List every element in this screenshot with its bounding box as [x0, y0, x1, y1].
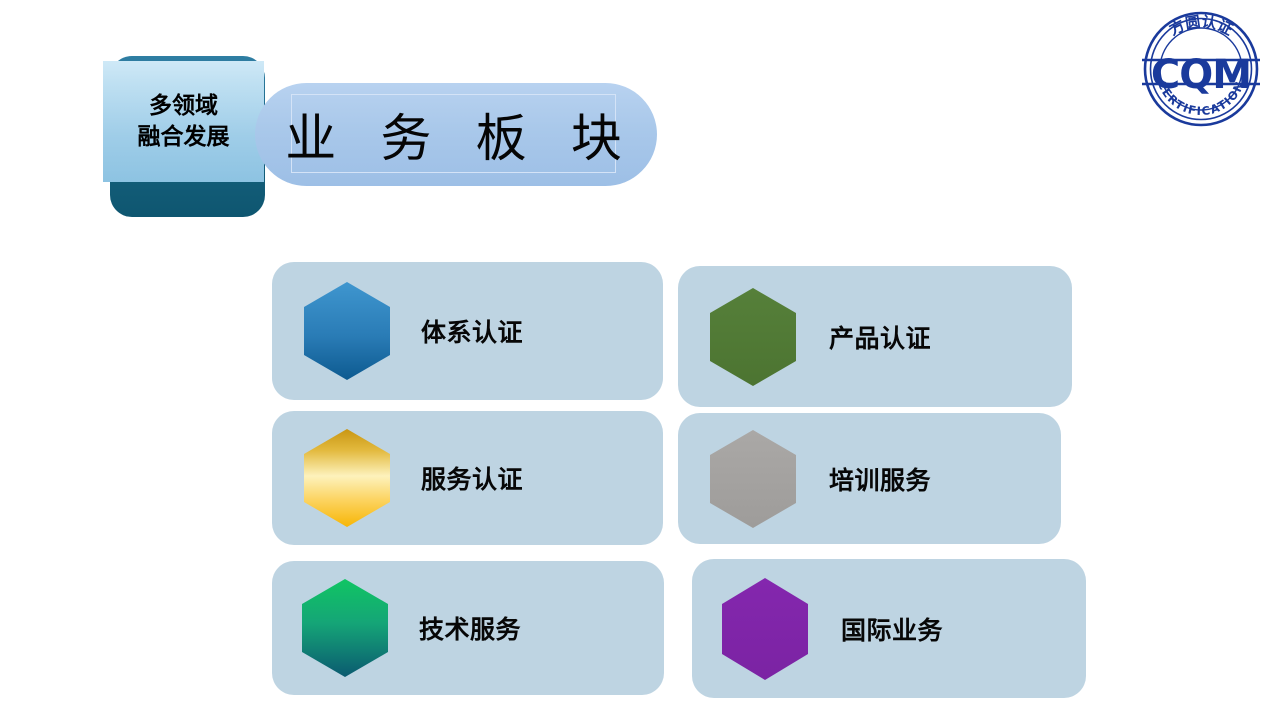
hexagon-icon [709, 287, 797, 387]
hexagon-icon [301, 578, 389, 678]
hexagon-icon [721, 577, 809, 681]
segment-card-label: 技术服务 [419, 610, 521, 646]
segment-card-system-certification[interactable]: 体系认证 [272, 262, 663, 400]
segment-card-label: 服务认证 [421, 460, 523, 496]
business-segment-grid: 体系认证 产品认证 [0, 0, 1280, 720]
segment-card-international-business[interactable]: 国际业务 [692, 559, 1086, 698]
segment-card-training-service[interactable]: 培训服务 [678, 413, 1061, 544]
hexagon-icon [303, 281, 391, 381]
segment-card-label: 体系认证 [421, 313, 523, 349]
segment-card-technical-service[interactable]: 技术服务 [272, 561, 664, 695]
segment-card-service-certification[interactable]: 服务认证 [272, 411, 663, 545]
hexagon-icon [303, 428, 391, 528]
segment-card-label: 产品认证 [829, 319, 931, 355]
hexagon-icon [709, 429, 797, 529]
segment-card-label: 国际业务 [841, 611, 943, 647]
segment-card-product-certification[interactable]: 产品认证 [678, 266, 1072, 407]
segment-card-label: 培训服务 [829, 461, 931, 497]
